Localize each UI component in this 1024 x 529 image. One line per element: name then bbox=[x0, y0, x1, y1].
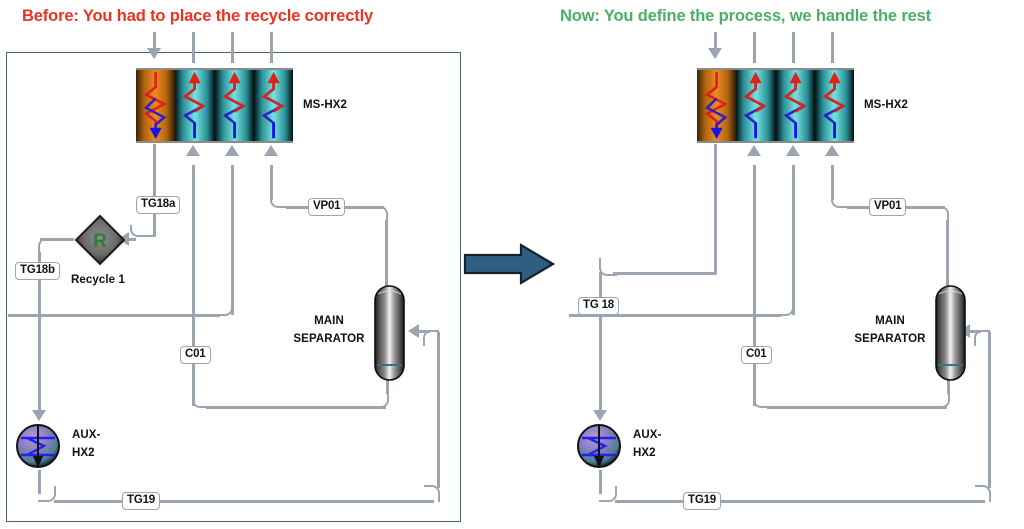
tag-vp01-right[interactable]: VP01 bbox=[869, 198, 906, 216]
tag-tg18a[interactable]: TG18a bbox=[136, 196, 180, 214]
vp01-down-left bbox=[385, 220, 388, 286]
tg18-down-right bbox=[599, 272, 602, 416]
hx-feed-arrow-0-left bbox=[147, 48, 161, 59]
slide-canvas: Before: You had to place the recycle cor… bbox=[0, 0, 1024, 529]
hx-bottom-arrow-3-right bbox=[825, 145, 839, 156]
hx-bottom-line-0-left bbox=[153, 144, 156, 164]
c01-horizontal-left bbox=[206, 406, 386, 409]
hx-channel-1 bbox=[175, 70, 214, 141]
c01-up-left bbox=[192, 165, 195, 321]
tg18a-elbow-left bbox=[130, 225, 156, 237]
aux-hx2-label-line1: AUX- bbox=[72, 427, 101, 445]
hx-channel-1-right bbox=[736, 70, 775, 141]
hx-outlet-line-2-left bbox=[231, 32, 234, 63]
tag-c01-right[interactable]: C01 bbox=[741, 346, 772, 364]
aux-hx2-label-line1-right: AUX- bbox=[633, 427, 662, 445]
ms-hx2-right bbox=[697, 68, 854, 143]
main-separator-label-left: MAIN SEPARATOR bbox=[290, 313, 368, 349]
c01-up-right bbox=[753, 165, 756, 321]
main-separator-label-line1-right: MAIN bbox=[851, 313, 929, 331]
main-separator-label-line1: MAIN bbox=[290, 313, 368, 331]
tag-tg18-right[interactable]: TG 18 bbox=[578, 297, 619, 315]
hx-bottom-arrow-1-left bbox=[186, 145, 200, 156]
aux-hx2-label-left: AUX- HX2 bbox=[72, 427, 101, 463]
tg19-horizontal-left bbox=[54, 500, 434, 503]
main-separator-right[interactable] bbox=[935, 285, 966, 381]
recycle-1-block[interactable]: R bbox=[74, 214, 126, 266]
c01-horizontal-right bbox=[767, 406, 947, 409]
hx-channel-0-right bbox=[697, 70, 736, 141]
tg19-arrow-head-left bbox=[408, 324, 419, 338]
hx-outlet-line-3-right bbox=[831, 32, 834, 63]
aux-hx2-label-right: AUX- HX2 bbox=[633, 427, 662, 463]
ms-hx2-label-right: MS-HX2 bbox=[864, 97, 908, 115]
tg19-sep-stub-right bbox=[969, 330, 981, 333]
hx-bottom-arrow-3-left bbox=[264, 145, 278, 156]
tag-vp01-left[interactable]: VP01 bbox=[308, 198, 345, 216]
tg19-horizontal-right bbox=[615, 500, 985, 503]
tg18-arrow-head-right bbox=[593, 410, 607, 421]
tg19-up-right bbox=[988, 332, 991, 488]
hx-bottom-arrow-1-right bbox=[747, 145, 761, 156]
aux-hx2-right[interactable] bbox=[575, 422, 623, 470]
tag-tg19-left[interactable]: TG19 bbox=[122, 492, 160, 510]
hx-outlet-line-1-left bbox=[192, 32, 195, 63]
hx-bottom-arrow-2-right bbox=[786, 145, 800, 156]
aux-hx2-label-line2: HX2 bbox=[72, 445, 101, 463]
tg18a-arrow-stem-left bbox=[128, 238, 136, 241]
before-title: Before: You had to place the recycle cor… bbox=[22, 7, 373, 26]
hx-outlet-line-1-right bbox=[753, 32, 756, 63]
tg18-horizontal-right bbox=[613, 272, 716, 275]
hx-channel-2 bbox=[215, 70, 254, 141]
hx-bottom-line-0-right bbox=[714, 144, 717, 164]
tg18b-arrow-head-left bbox=[32, 410, 46, 421]
tag-c01-left[interactable]: C01 bbox=[180, 346, 211, 364]
aux-hx2-left[interactable] bbox=[14, 422, 62, 470]
hx-outlet-line-3-left bbox=[270, 32, 273, 63]
hx-feed-arrow-0-right bbox=[708, 48, 722, 59]
main-separator-label-line2: SEPARATOR bbox=[290, 331, 368, 349]
ms-hx2-label-left: MS-HX2 bbox=[303, 97, 347, 115]
hx-outlet-line-2-right bbox=[792, 32, 795, 63]
feed3-vertical-right bbox=[792, 165, 795, 315]
main-separator-left[interactable] bbox=[374, 285, 405, 381]
recycle-1-label: Recycle 1 bbox=[71, 272, 125, 290]
tg19-up-left bbox=[437, 332, 440, 488]
vp01-down-right bbox=[946, 220, 949, 286]
now-title: Now: You define the process, we handle t… bbox=[560, 7, 931, 26]
main-separator-label-line2-right: SEPARATOR bbox=[851, 331, 929, 349]
tag-tg19-right[interactable]: TG19 bbox=[683, 492, 721, 510]
tg18-vertical-right bbox=[714, 164, 717, 274]
hx-channel-0 bbox=[136, 70, 175, 141]
transition-right-arrow-icon bbox=[463, 243, 555, 285]
tg19-sep-stub-left bbox=[418, 330, 430, 333]
tag-tg18b[interactable]: TG18b bbox=[15, 262, 60, 280]
feed3-horizontal-right bbox=[569, 314, 781, 317]
ms-hx2-left bbox=[136, 68, 293, 143]
hx-channel-3 bbox=[254, 70, 293, 141]
aux-hx2-label-line2-right: HX2 bbox=[633, 445, 662, 463]
hx-channel-3-right bbox=[815, 70, 854, 141]
feed3-vertical-left bbox=[231, 165, 234, 315]
main-separator-label-right: MAIN SEPARATOR bbox=[851, 313, 929, 349]
feed3-horizontal-left bbox=[8, 314, 220, 317]
hx-bottom-arrow-2-left bbox=[225, 145, 239, 156]
svg-text:R: R bbox=[93, 231, 107, 252]
hx-channel-2-right bbox=[776, 70, 815, 141]
